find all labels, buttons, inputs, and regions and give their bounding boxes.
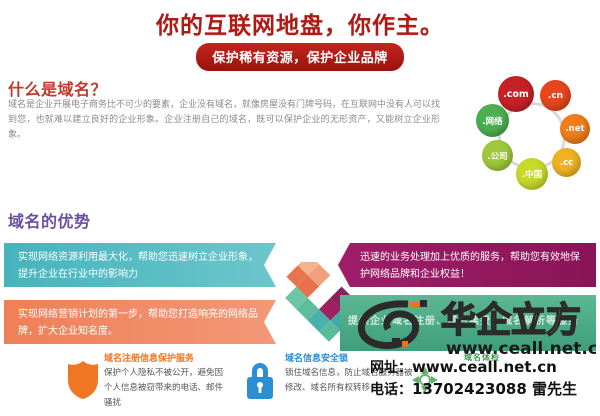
hero-subtitle-badge: 保护稀有资源，保护企业品牌: [196, 43, 404, 71]
tld-node-wangluo: .网络: [476, 104, 509, 137]
tld-node-gongsi: .公司: [482, 140, 513, 171]
hero-subtitle-wrap: 保护稀有资源，保护企业品牌: [0, 43, 600, 71]
watermark-url-value: www.ceall.net.cn: [412, 358, 557, 376]
tld-node-com: .com: [498, 76, 534, 112]
tld-node-zhongguo: .中国: [516, 158, 548, 190]
tld-node-cn: .cn: [540, 80, 571, 111]
section-body-what-is-domain: 域名是企业开展电子商务比不可少的要素，企业没有域名，就像房屋没有门牌号码，在互联…: [8, 98, 440, 143]
feature-privacy-body: 保护个人隐私不被公开，避免因个人信息被窃带来的电话、邮件骚扰: [104, 366, 229, 411]
promo-bar-text: 提供企业域名注册、域名续费、域名解析等服务: [348, 312, 592, 327]
watermark-url-label: 网址：: [370, 360, 412, 376]
poster-page: 你的互联网地盘，你作主。 保护稀有资源，保护企业品牌 什么是域名？ 域名是企业开…: [0, 0, 600, 416]
hero-section: 你的互联网地盘，你作主。 保护稀有资源，保护企业品牌: [0, 0, 600, 72]
tld-node-net: .net: [560, 114, 590, 144]
advantage-banner-marketing: 实现网络营销计划的第一步，帮助您打造响亮的网络品牌，扩大企业知名度。: [4, 300, 276, 344]
lock-icon: [240, 358, 280, 402]
domain-suffix-circle-diagram: .com .cn .net .cc .中国 .公司 .网络: [468, 78, 596, 198]
advantage-banner-resource: 实现网络资源利用最大化，帮助您迅速树立企业形象，提升企业在行业中的影响力: [4, 243, 276, 287]
page-title: 你的互联网地盘，你作主。: [0, 6, 600, 40]
promo-bar: 提供企业域名注册、域名续费、域名解析等服务: [340, 295, 596, 351]
watermark-url-line: 网址：www.ceall.net.cn: [370, 357, 600, 379]
watermark-phone-value: 13702423088 雷先生: [412, 380, 577, 398]
tld-node-cc: .cc: [552, 148, 581, 177]
watermark-phone-line: 电话：13702423088 雷先生: [370, 379, 600, 401]
feature-privacy-protection: 域名注册信息保护服务 保护个人隐私不被公开，避免因个人信息被窃带来的电话、邮件骚…: [104, 352, 229, 411]
watermark-contact: 网址：www.ceall.net.cn 电话：13702423088 雷先生: [370, 357, 600, 401]
shield-icon: [66, 360, 100, 400]
section-heading-advantages: 域名的优势: [8, 208, 91, 232]
watermark-phone-label: 电话：: [370, 382, 412, 398]
section-heading-what-is-domain: 什么是域名？: [8, 76, 107, 100]
advantage-banner-service: 迅速的业务处理加上优质的服务，帮助您有效地保护网络品牌和企业权益！: [338, 243, 596, 287]
feature-privacy-title: 域名注册信息保护服务: [104, 352, 229, 366]
